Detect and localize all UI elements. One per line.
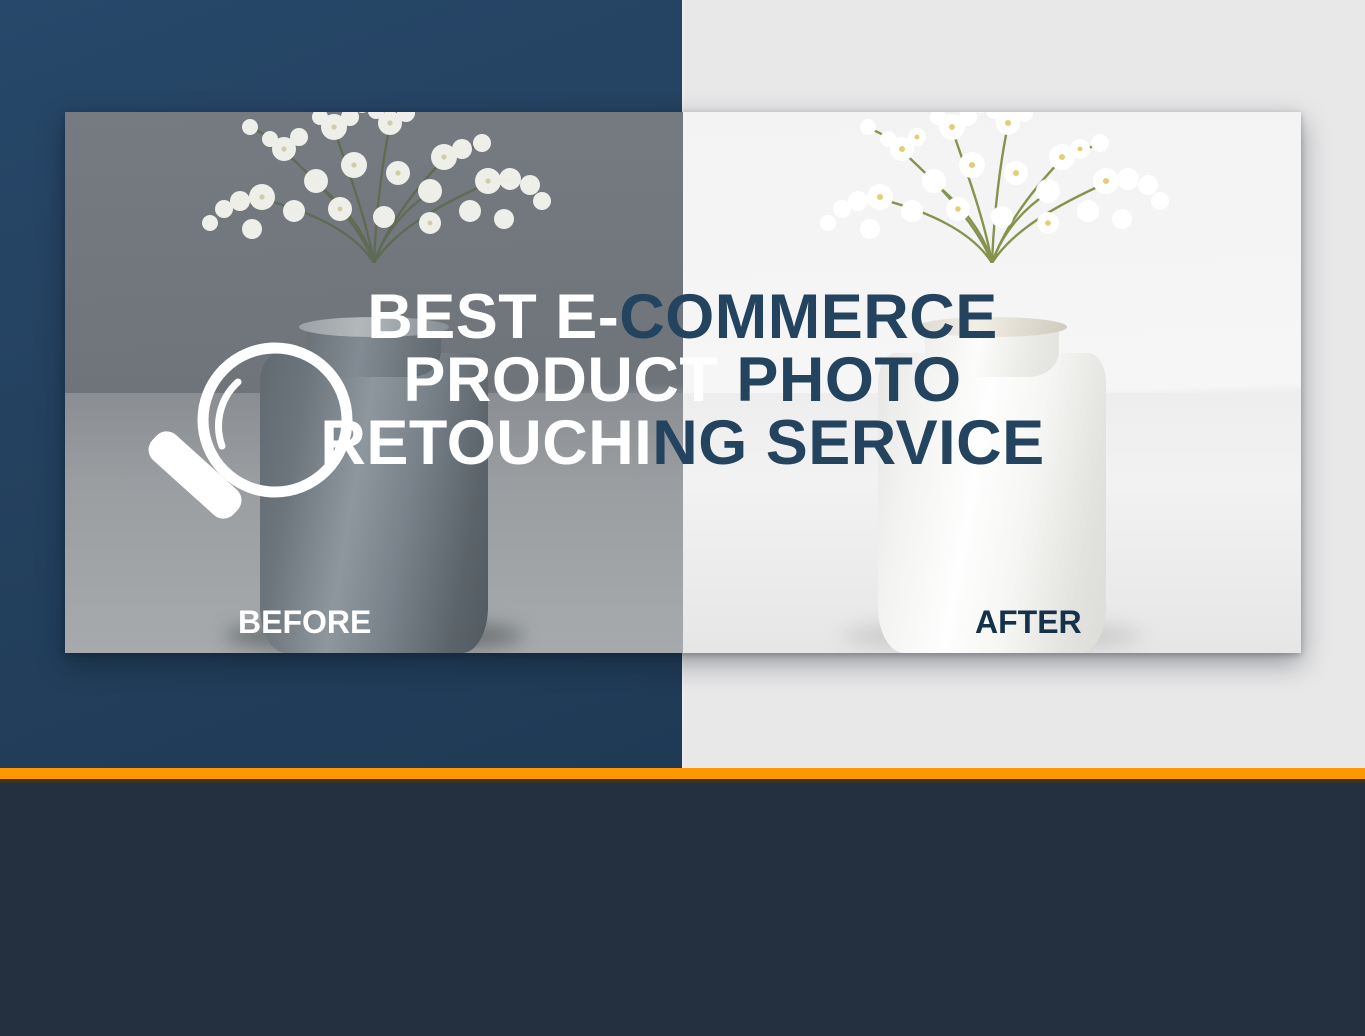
magnifying-glass-icon — [128, 330, 368, 570]
label-before: BEFORE — [238, 604, 371, 641]
magnifier-svg — [128, 330, 368, 570]
accent-divider-orange — [0, 768, 1365, 779]
flower-bouquet-before — [144, 112, 604, 263]
slide-canvas: BEFORE AFTER BEST E-COMMERCE PRODUCT PHO… — [0, 0, 1365, 1036]
before-after-photo-card: BEFORE AFTER — [65, 112, 1301, 653]
footer-panel: Retouching Services: Port of Central Eas… — [0, 783, 1365, 1036]
label-after: AFTER — [975, 604, 1082, 641]
flower-bouquet-after — [762, 112, 1222, 263]
vase-lip-after — [917, 317, 1067, 337]
photo-half-after — [683, 112, 1301, 653]
bouquet-svg-after — [762, 112, 1222, 263]
bouquet-svg-before — [144, 112, 604, 263]
